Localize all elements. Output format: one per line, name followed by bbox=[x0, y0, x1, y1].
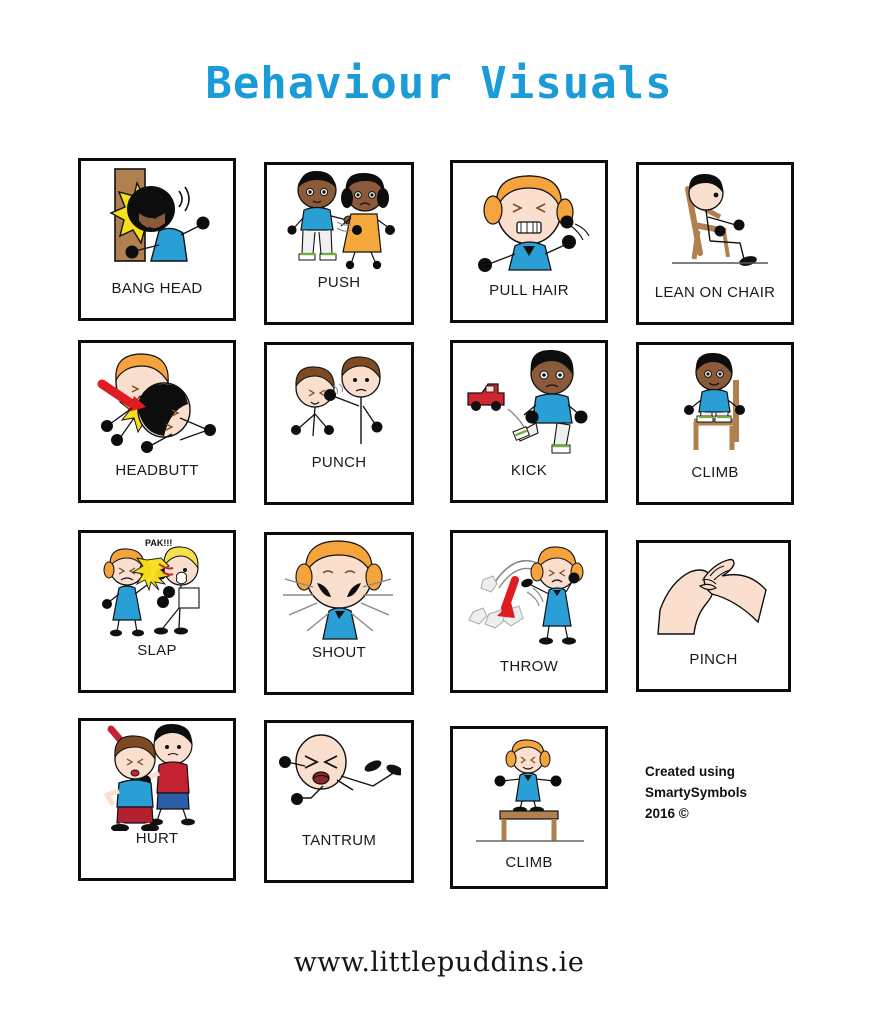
climb-table-illustration bbox=[453, 729, 605, 855]
behaviour-card-headbutt[interactable]: HEADBUTT bbox=[78, 340, 236, 503]
credit-text: Created using SmartySymbols 2016 © bbox=[645, 762, 747, 825]
behaviour-card-lean-on-chair[interactable]: LEAN ON CHAIR bbox=[636, 162, 794, 325]
behaviour-card-pull-hair[interactable]: PULL HAIR bbox=[450, 160, 608, 323]
kick-illustration bbox=[453, 343, 605, 463]
behaviour-card-hurt[interactable]: HURT bbox=[78, 718, 236, 881]
slap-illustration: PAK!!! bbox=[81, 533, 233, 643]
lean-on-chair-illustration bbox=[639, 165, 791, 285]
card-label: BANG HEAD bbox=[111, 281, 202, 296]
footer-website-url: www.littlepuddins.ie bbox=[0, 947, 878, 978]
behaviour-card-climb-table[interactable]: CLIMB bbox=[450, 726, 608, 889]
page-title: Behaviour Visuals bbox=[0, 58, 878, 109]
card-label: SHOUT bbox=[312, 645, 366, 660]
card-label: HURT bbox=[136, 831, 179, 846]
slap-sound-effect-text: PAK!!! bbox=[145, 538, 172, 548]
card-label: HEADBUTT bbox=[115, 463, 198, 478]
card-label: LEAN ON CHAIR bbox=[655, 285, 776, 300]
behaviour-card-shout[interactable]: SHOUT bbox=[264, 532, 414, 695]
behaviour-card-punch[interactable]: PUNCH bbox=[264, 342, 414, 505]
card-row-3: PAK!!! bbox=[66, 530, 826, 720]
card-label: CLIMB bbox=[505, 855, 552, 870]
headbutt-illustration bbox=[81, 343, 233, 463]
card-row-2: HEADBUTT bbox=[66, 340, 826, 530]
punch-illustration bbox=[267, 345, 411, 455]
card-label: THROW bbox=[500, 659, 558, 674]
tantrum-illustration bbox=[267, 723, 411, 833]
behaviour-card-climb-chair[interactable]: CLIMB bbox=[636, 342, 794, 505]
card-label: KICK bbox=[511, 463, 547, 478]
throw-illustration bbox=[453, 533, 605, 659]
card-label: PINCH bbox=[689, 652, 737, 667]
behaviour-card-tantrum[interactable]: TANTRUM bbox=[264, 720, 414, 883]
pull-hair-illustration bbox=[453, 163, 605, 283]
card-label: PUNCH bbox=[312, 455, 367, 470]
behaviour-card-pinch[interactable]: PINCH bbox=[636, 540, 791, 692]
bang-head-illustration bbox=[81, 161, 233, 281]
behaviour-card-slap[interactable]: PAK!!! bbox=[78, 530, 236, 693]
card-label: CLIMB bbox=[691, 465, 738, 480]
behaviour-card-throw[interactable]: THROW bbox=[450, 530, 608, 693]
card-label: PULL HAIR bbox=[489, 283, 569, 298]
card-label: TANTRUM bbox=[302, 833, 376, 848]
shout-illustration bbox=[267, 535, 411, 645]
card-row-1: BANG HEAD bbox=[66, 150, 826, 340]
behaviour-card-kick[interactable]: KICK bbox=[450, 340, 608, 503]
card-label: PUSH bbox=[318, 275, 361, 290]
hurt-illustration bbox=[81, 721, 233, 831]
behaviour-card-bang-head[interactable]: BANG HEAD bbox=[78, 158, 236, 321]
behaviour-card-push[interactable]: PUSH bbox=[264, 162, 414, 325]
climb-chair-illustration bbox=[639, 345, 791, 465]
pinch-illustration bbox=[639, 543, 788, 652]
card-label: SLAP bbox=[137, 643, 177, 658]
push-illustration bbox=[267, 165, 411, 275]
